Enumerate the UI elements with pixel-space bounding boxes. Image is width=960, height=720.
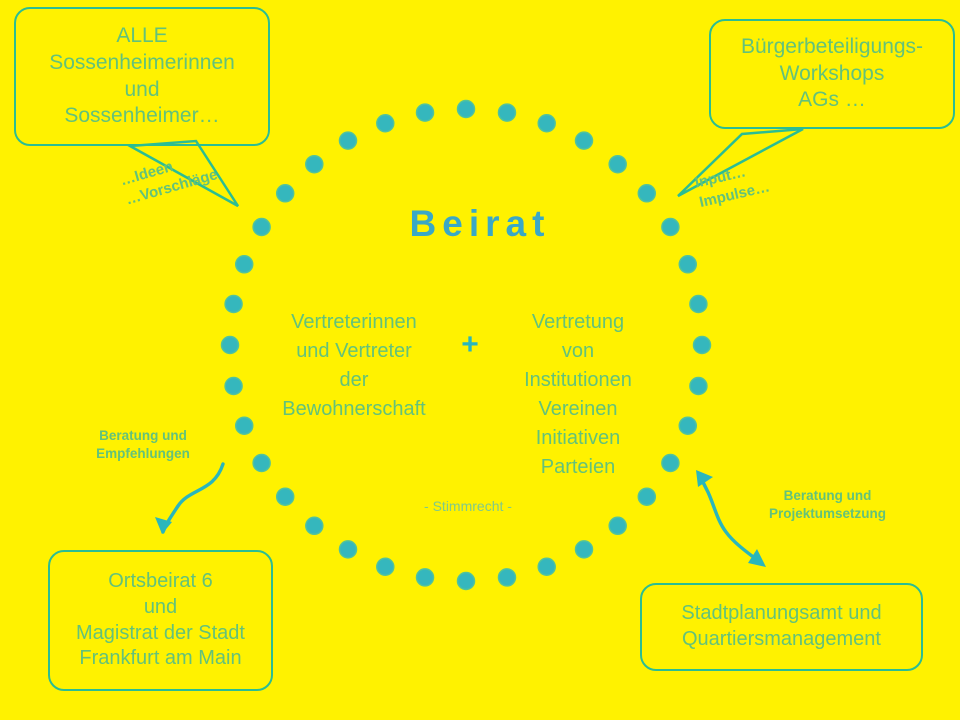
box-ortsbeirat-line-2: und (144, 595, 177, 621)
center-right-line-2: von (478, 337, 678, 366)
box-ortsbeirat-line-1: Ortsbeirat 6 (108, 569, 212, 595)
arrow-beratung-empfehlungen (163, 464, 223, 532)
diagram-canvas: ALLE Sossenheimerinnen und Sossenheimer…… (0, 0, 960, 720)
annotation-beratung-right-line-1: Beratung und (745, 487, 910, 505)
box-stadtplanung-line-1: Stadtplanungsamt und (681, 601, 881, 627)
center-right-column: Vertretung von Institutionen Vereinen In… (478, 308, 678, 482)
bubble-residents[interactable]: ALLE Sossenheimerinnen und Sossenheimer… (14, 7, 270, 146)
annotation-beratung-left-line-1: Beratung und (78, 427, 208, 445)
center-left-line-4: Bewohnerschaft (255, 395, 453, 424)
center-left-column: Vertreterinnen und Vertreter der Bewohne… (255, 308, 453, 424)
center-right-line-6: Parteien (478, 453, 678, 482)
box-stadtplanungsamt[interactable]: Stadtplanungsamt und Quartiersmanagement (640, 583, 923, 671)
box-ortsbeirat-line-3: Magistrat der Stadt (76, 621, 245, 647)
box-ortsbeirat-line-4: Frankfurt am Main (79, 646, 241, 672)
center-right-line-5: Initiativen (478, 424, 678, 453)
bubble-workshops[interactable]: Bürgerbeteiligungs- Workshops AGs … (709, 19, 955, 129)
center-left-line-1: Vertreterinnen (255, 308, 453, 337)
bubble-residents-line-3: und (124, 77, 159, 104)
annotation-beratung-empfehlungen: Beratung und Empfehlungen (78, 427, 208, 463)
bubble-residents-line-1: ALLE (116, 23, 167, 50)
center-right-line-1: Vertretung (478, 308, 678, 337)
bubble-residents-line-2: Sossenheimerinnen (49, 50, 235, 77)
bubble-workshops-line-3: AGs … (798, 87, 866, 114)
bubble-residents-line-4: Sossenheimer… (64, 103, 219, 130)
box-stadtplanung-line-2: Quartiersmanagement (682, 627, 881, 653)
annotation-beratung-projektumsetzung: Beratung und Projektumsetzung (745, 487, 910, 523)
footnote-stimmrecht: - Stimmrecht - (338, 498, 598, 514)
page-title: Beirat (0, 203, 960, 245)
annotation-beratung-right-line-2: Projektumsetzung (745, 505, 910, 523)
bubble-workshops-line-1: Bürgerbeteiligungs- (741, 34, 923, 61)
center-left-line-2: und Vertreter (255, 337, 453, 366)
center-right-line-3: Institutionen (478, 366, 678, 395)
bubble-workshops-line-2: Workshops (780, 61, 885, 88)
annotation-beratung-left-line-2: Empfehlungen (78, 445, 208, 463)
center-left-line-3: der (255, 366, 453, 395)
box-ortsbeirat[interactable]: Ortsbeirat 6 und Magistrat der Stadt Fra… (48, 550, 273, 691)
arrowhead-projektumsetzung-down (748, 549, 766, 567)
center-right-line-4: Vereinen (478, 395, 678, 424)
